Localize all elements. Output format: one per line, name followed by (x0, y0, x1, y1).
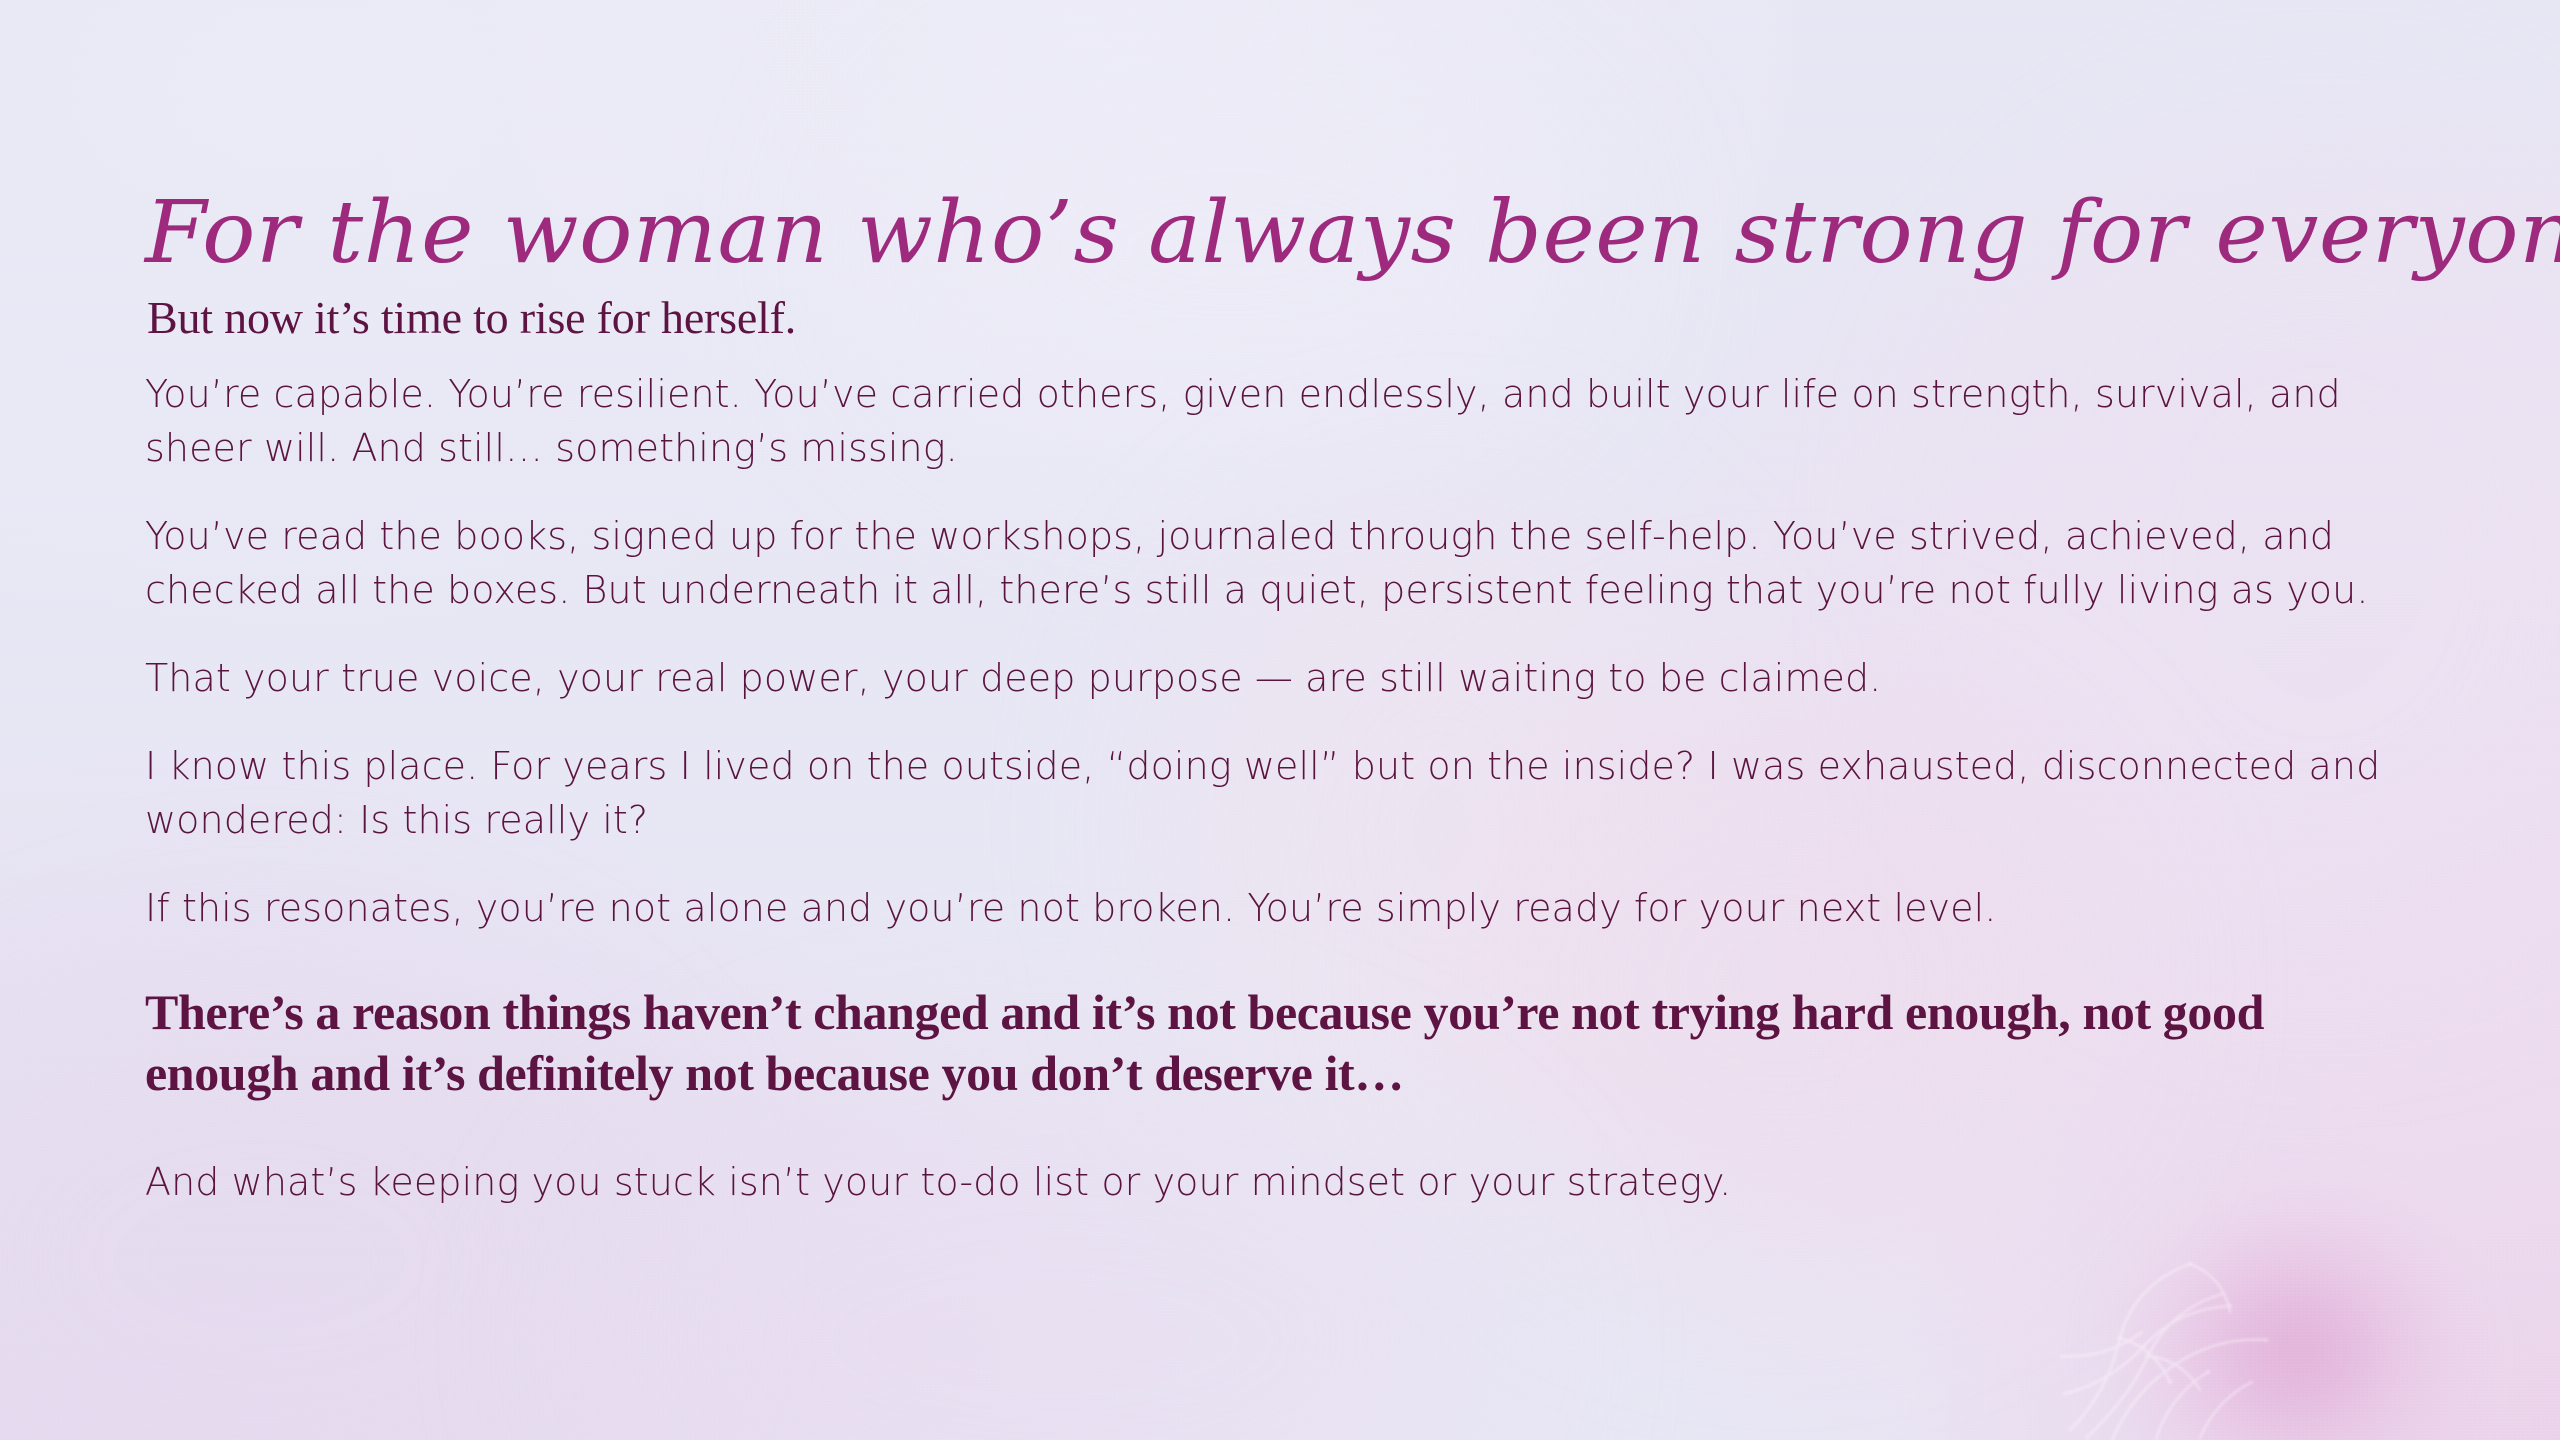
paragraph-i-know-this-place: I know this place. For years I lived on … (145, 740, 2405, 848)
paragraph-if-this-resonates: If this resonates, you’re not alone and … (145, 882, 2405, 936)
paragraph-true-voice: That your true voice, your real power, y… (145, 652, 2405, 706)
paragraph-theres-a-reason: There’s a reason things haven’t changed … (145, 982, 2405, 1104)
paragraph-books: You’ve read the books, signed up for the… (145, 510, 2405, 618)
paragraph-whats-keeping-you-stuck: And what’s keeping you stuck isn’t your … (145, 1156, 2405, 1210)
body-copy-block: You’re capable. You’re resilient. You’ve… (145, 368, 2405, 1244)
paragraph-capable: You’re capable. You’re resilient. You’ve… (145, 368, 2405, 476)
page-subheadline: But now it’s time to rise for herself. (147, 293, 796, 344)
page-canvas: For the woman who’s always been strong f… (0, 0, 2560, 1440)
page-headline: For the woman who’s always been strong f… (145, 190, 2504, 276)
